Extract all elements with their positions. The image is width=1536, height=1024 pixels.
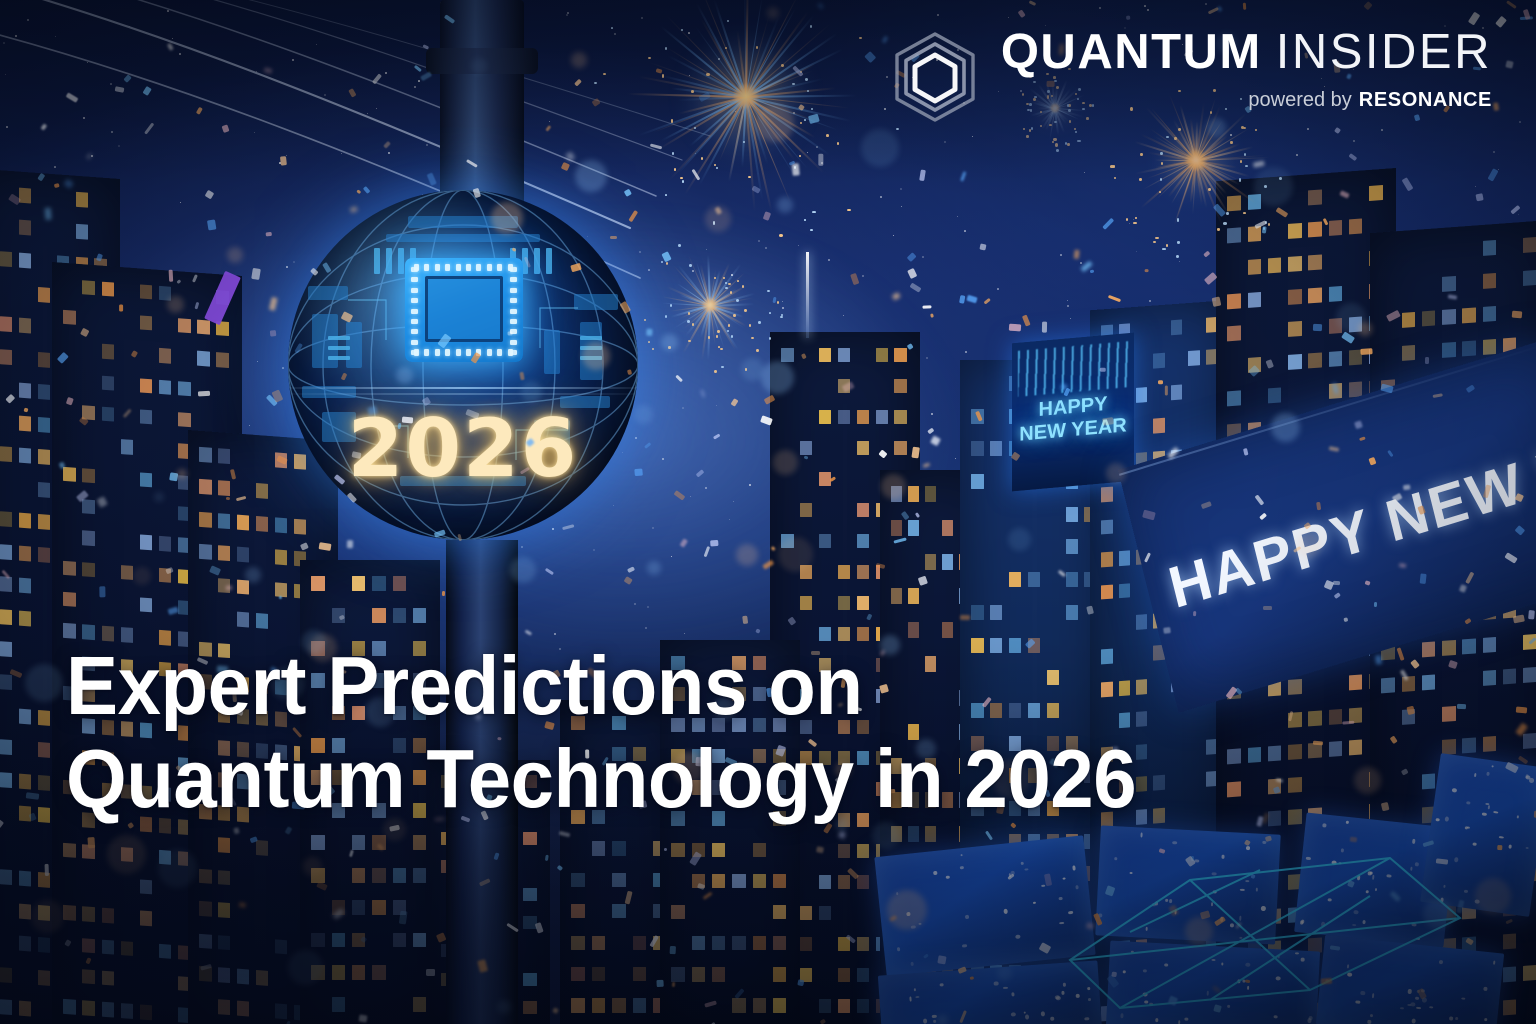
headline-line-2: Quantum Technology in 2026 [66, 733, 1136, 826]
brand-name-secondary: INSIDER [1276, 28, 1492, 77]
billboard-screen [1095, 825, 1281, 944]
brand-logo[interactable]: QUANTUM INSIDER powered by RESONANCE [887, 28, 1492, 132]
ball-equator-band [288, 387, 638, 389]
ball-equator-band [288, 393, 638, 395]
page-title: Expert Predictions on Quantum Technology… [66, 640, 1136, 826]
billboard-happy-new-year-vertical: HAPPY NEW YEAR [1012, 333, 1134, 492]
quantum-processor-chip-icon [405, 258, 523, 362]
new-year-ball: 2026 [288, 190, 638, 540]
brand-wordmark: QUANTUM INSIDER powered by RESONANCE [1001, 28, 1492, 110]
brand-tagline-row: powered by RESONANCE [1248, 90, 1492, 110]
building-spire [806, 252, 809, 338]
billboard-graphic [1018, 341, 1128, 397]
billboard-screen [1420, 753, 1536, 917]
hexagon-logo-icon [887, 30, 983, 132]
billboard-text: HAPPY NEW YEAR [1012, 391, 1134, 448]
tagline-prefix: powered by [1248, 90, 1351, 110]
billboard-screen [1106, 941, 1320, 1024]
billboard-screen [874, 835, 1095, 976]
headline-line-1: Expert Predictions on [66, 640, 1136, 733]
ball-pole-cap [426, 48, 538, 74]
brand-name-primary: QUANTUM [1001, 28, 1262, 77]
ball-sphere: 2026 [288, 190, 638, 540]
tagline-brand: RESONANCE [1359, 90, 1492, 110]
chip-pins [405, 258, 523, 362]
ball-year-label: 2026 [288, 402, 638, 495]
hero-banner: HAPPY NEW YEAR HAPPY NEW YEAR [0, 0, 1536, 1024]
brand-name-row: QUANTUM INSIDER [1001, 28, 1492, 77]
